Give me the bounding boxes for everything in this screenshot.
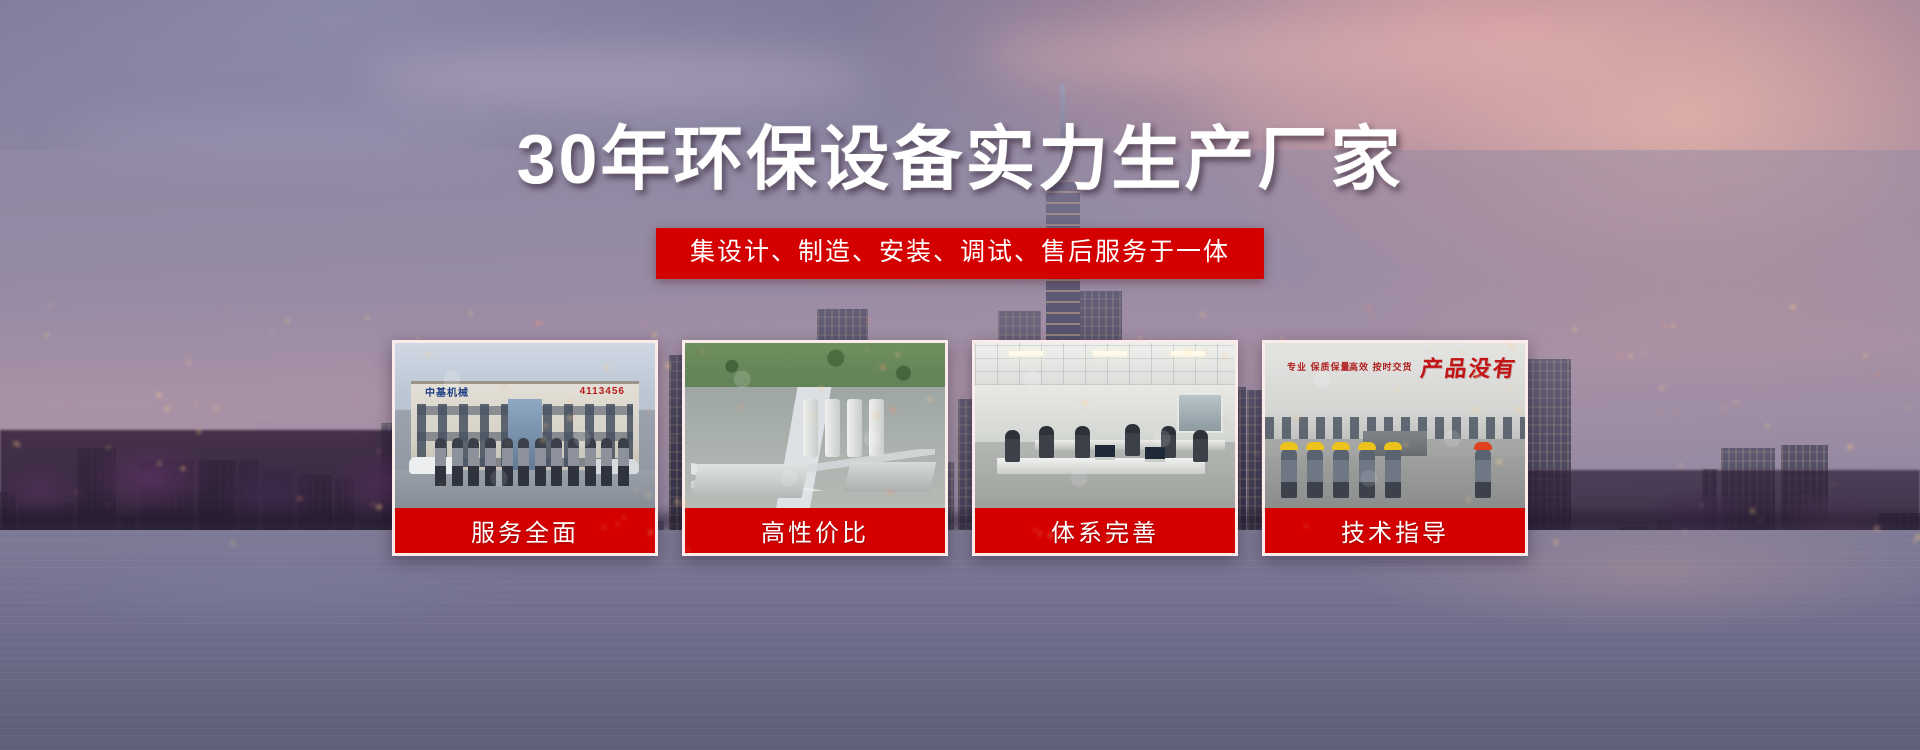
city-light	[1467, 498, 1470, 501]
city-light	[1478, 318, 1479, 319]
city-light	[1223, 355, 1226, 358]
city-light	[569, 400, 572, 403]
city-light	[675, 500, 679, 504]
city-light	[544, 424, 547, 427]
card-thumbnail: 产品没有 专业 保质保量 高效 按时交货	[1265, 343, 1525, 508]
city-light	[788, 358, 789, 359]
city-light	[1864, 354, 1867, 357]
city-light	[157, 393, 161, 397]
city-light	[701, 351, 704, 354]
banner-subtitle-badge: 集设计、制造、安装、调试、售后服务于一体	[656, 228, 1264, 279]
city-light	[1642, 352, 1644, 354]
feature-card[interactable]: 体系完善	[972, 340, 1238, 556]
city-light	[1801, 408, 1802, 409]
card-caption: 体系完善	[975, 508, 1235, 553]
city-light	[45, 334, 48, 337]
city-light	[1474, 408, 1477, 411]
city-light	[1674, 411, 1676, 413]
city-light	[740, 405, 743, 408]
city-light	[1723, 407, 1725, 409]
city-light	[1573, 328, 1576, 331]
city-light	[1187, 350, 1190, 353]
city-light	[1629, 355, 1632, 358]
building-signage: 中基机械 4113456	[425, 385, 625, 398]
city-light	[1760, 519, 1761, 520]
city-light	[653, 333, 656, 336]
city-light	[891, 408, 895, 412]
office-ceiling	[975, 343, 1235, 385]
city-light	[1734, 401, 1737, 404]
city-light	[1475, 374, 1479, 378]
city-light	[568, 416, 572, 420]
city-light	[1791, 305, 1795, 309]
warehouse	[844, 462, 936, 492]
city-light	[1751, 509, 1754, 512]
city-light	[1091, 362, 1093, 364]
city-light	[1281, 337, 1283, 339]
city-light	[1107, 538, 1110, 541]
feature-card-list: 中基机械 4113456 服务全面	[392, 340, 1528, 556]
city-light	[458, 484, 459, 485]
city-light	[819, 387, 823, 391]
city-light	[1619, 355, 1622, 358]
feature-card[interactable]: 高性价比	[682, 340, 948, 556]
city-light	[1684, 531, 1686, 533]
city-light	[1832, 483, 1834, 485]
city-light	[541, 439, 545, 443]
industrial-plant	[685, 387, 945, 508]
city-light	[1916, 535, 1920, 539]
card-caption: 技术指导	[1265, 508, 1525, 553]
city-light	[1409, 350, 1410, 351]
city-light	[1679, 464, 1682, 467]
city-light	[881, 365, 885, 369]
factory-wall-slogan: 产品没有	[1419, 351, 1520, 383]
warehouse	[691, 464, 808, 498]
city-light	[366, 316, 369, 319]
city-light	[165, 407, 169, 411]
city-light	[672, 438, 674, 440]
city-light	[1497, 460, 1501, 464]
card-thumbnail	[685, 343, 945, 508]
city-light	[187, 361, 190, 364]
city-light	[810, 414, 813, 417]
city-light	[1292, 418, 1293, 419]
city-light	[605, 366, 608, 369]
city-light	[1876, 373, 1879, 376]
city-light	[1665, 385, 1667, 387]
card-thumbnail	[975, 343, 1235, 508]
city-light	[1517, 408, 1521, 412]
city-light	[1660, 387, 1663, 390]
city-light	[1766, 424, 1769, 427]
city-light	[197, 430, 201, 434]
office-window	[1177, 393, 1223, 433]
city-light	[1554, 541, 1558, 545]
city-light	[1509, 344, 1513, 348]
staff-row	[435, 438, 629, 486]
company-name-sign: 中基机械	[425, 384, 469, 399]
city-light	[1508, 387, 1511, 390]
city-light	[888, 491, 892, 495]
city-light	[263, 416, 265, 418]
city-light	[1875, 527, 1879, 531]
card-thumbnail: 中基机械 4113456	[395, 343, 655, 508]
feature-card[interactable]: 产品没有 专业 保质保量 高效 按时交货 技术指导	[1262, 340, 1528, 556]
city-light	[298, 497, 301, 500]
city-light	[1913, 540, 1916, 543]
city-light	[426, 353, 430, 357]
banner-content: 30年环保设备实力生产厂家 集设计、制造、安装、调试、售后服务于一体 中基机械 …	[0, 0, 1920, 750]
city-light	[195, 403, 197, 405]
city-light	[378, 450, 380, 452]
card-caption: 服务全面	[395, 508, 655, 553]
city-light	[682, 502, 686, 506]
phone-number-sign: 4113456	[580, 386, 625, 397]
meeting-desk	[997, 458, 1205, 474]
city-light	[377, 505, 381, 509]
city-light	[69, 404, 70, 405]
city-light	[536, 321, 540, 325]
factory-slogan-left: 专业 保质保量	[1287, 361, 1351, 375]
city-light	[1049, 534, 1052, 537]
card-caption: 高性价比	[685, 508, 945, 553]
city-light	[181, 467, 185, 471]
hero-banner: 30年环保设备实力生产厂家 集设计、制造、安装、调试、售后服务于一体 中基机械 …	[0, 0, 1920, 750]
city-light	[1660, 411, 1662, 413]
city-light	[1201, 313, 1204, 316]
city-light	[666, 364, 670, 368]
city-light	[1296, 417, 1299, 420]
city-light	[649, 531, 652, 534]
city-light	[1907, 407, 1909, 409]
city-light	[928, 398, 932, 402]
city-light	[808, 467, 809, 468]
factory-slogan-right: 高效 按时交货	[1349, 361, 1413, 375]
banner-headline: 30年环保设备实力生产厂家	[0, 124, 1920, 194]
city-light	[271, 329, 273, 331]
city-light	[1223, 419, 1225, 421]
city-light	[107, 447, 110, 450]
city-light	[867, 320, 870, 323]
city-light	[718, 323, 719, 324]
